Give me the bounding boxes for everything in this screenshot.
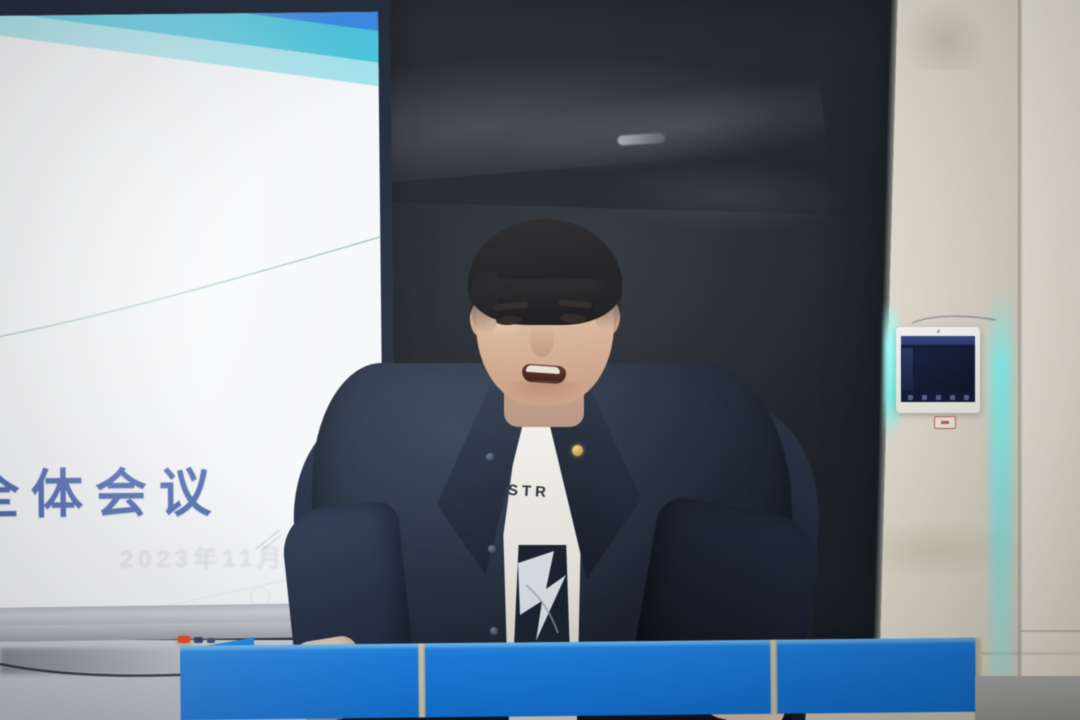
tablet-titlebar [901,336,975,345]
wall-sticker [934,416,956,429]
tablet-wire [912,312,996,326]
tablet-camera-icon [937,330,940,333]
tablet-dock[interactable] [903,393,973,401]
slide-banner [0,12,384,103]
tablet-content-area [915,348,973,392]
dock-icon-3[interactable] [936,395,941,400]
podium-seam-1 [418,643,426,717]
rail-button-1[interactable] [194,637,203,643]
wall-led-strip-vertical [990,290,1012,710]
dock-icon-1[interactable] [908,395,913,400]
floor-right [975,676,1080,720]
tablet-sidebar[interactable] [902,348,913,390]
slide-title: 全体会议 [0,451,223,529]
sticker-bar [941,421,949,424]
nose [530,323,554,357]
wall-stain-upper [900,0,990,70]
podium-seam-2 [770,640,778,714]
jacket-button-2 [488,545,496,553]
wall-seam-horizontal-right [1020,630,1080,632]
jacket-button-3 [490,627,498,635]
jacket-button-gold [572,445,583,456]
slide-flourish-icon [253,527,283,553]
t-shirt-logo-text: STR [508,482,551,501]
wall-pillar [1022,0,1080,700]
dock-icon-4[interactable] [950,395,955,400]
power-indicator-led [178,636,190,643]
chin-shadow [502,381,586,405]
podium [180,638,981,720]
dock-icon-2[interactable] [922,395,927,400]
hair-side-right [594,269,622,329]
jacket-button-1 [486,453,494,461]
hair-side-left [470,271,498,333]
wall-control-tablet[interactable] [896,327,980,413]
photo-scene: 全体会议 2023年11月10日 [0,0,1080,720]
dock-icon-5[interactable] [964,395,969,400]
tablet-screen[interactable] [901,336,975,402]
rail-button-2[interactable] [207,638,215,643]
